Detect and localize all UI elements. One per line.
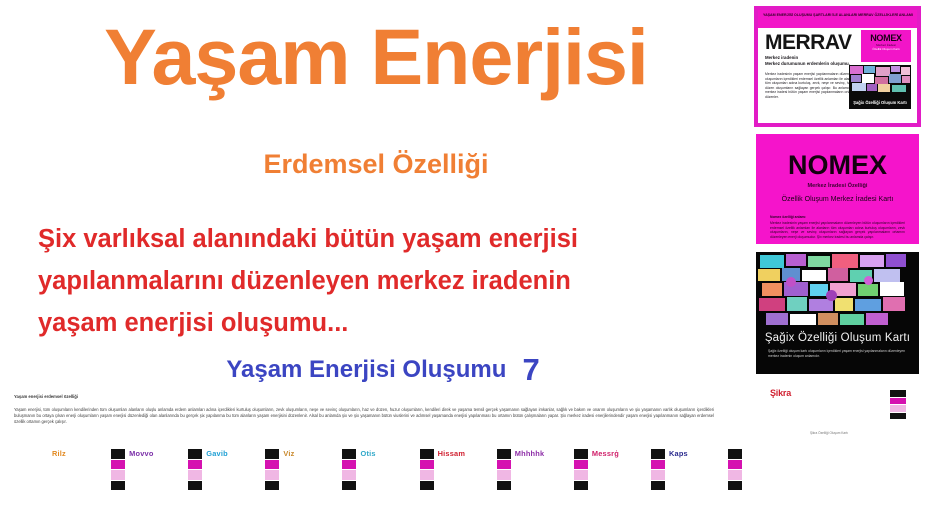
merrav-thumbnail-caption: Şağix Özelliği Oluşum Kartı [849, 100, 911, 105]
body-text: Şix varlıksal alanındaki bütün yaşam ene… [38, 218, 728, 344]
thumbnail-title: Movvo [129, 449, 153, 458]
slide-canvas: Yaşam Enerjisi Erdemsel Özelliği Şix var… [0, 0, 925, 527]
thumbnail-title: Kaps [669, 449, 688, 458]
thumbnail-title: Messrġ [592, 449, 619, 458]
gallery-mosaic [756, 252, 919, 330]
thumbnail-card[interactable]: Messrġ [592, 449, 665, 509]
thumbnail-strip [651, 449, 665, 491]
document-paragraph: Yaşam enerjisi, tüm oluşumların kendiler… [14, 407, 714, 425]
nomex-card[interactable]: NOMEX Merkez İradesi Özelliği Özellik Ol… [756, 134, 919, 244]
sikra-strip [890, 390, 906, 420]
body-line-3: yaşam enerjisi oluşumu... [38, 302, 728, 344]
gallery-subtitle: Şağix özelliği oluşum kartı oluşumların … [768, 349, 907, 358]
caption-row: Yaşam Enerjisi Oluşumu7 [38, 352, 728, 388]
gallery-card[interactable]: Şağix Özelliği Oluşum Kartı Şağix özelli… [756, 252, 919, 374]
merrav-subtitle: Merkez iradenin Merkez durumunun erdemle… [765, 55, 860, 68]
thumbnail-strip [111, 449, 125, 491]
merrav-card[interactable]: YAŞAM ENERJİSİ OLUŞUMU ŞARTLARI İLE ALAN… [754, 6, 921, 127]
body-line-1: Şix varlıksal alanındaki bütün yaşam ene… [38, 218, 728, 260]
thumbnail-row: Rilz Movvo Gavib [52, 449, 742, 511]
thumbnail-title: Rilz [52, 449, 66, 458]
thumbnail-title: Otis [361, 449, 376, 458]
thumbnail-strip [420, 449, 434, 491]
thumbnail-card[interactable]: Hissam [438, 449, 511, 509]
gallery-title: Şağix Özelliği Oluşum Kartı [756, 332, 919, 344]
sikra-footer: Şikra Özelliği Oluşum Kartı [770, 429, 888, 435]
caption-number: 7 [522, 352, 539, 387]
thumbnail-title: Mhhhhk [515, 449, 545, 458]
thumbnail-strip [188, 449, 202, 491]
page-title: Yaşam Enerjisi [18, 14, 734, 100]
merrav-body-text: Merkez iradesinin yaşam enerjisi yapılan… [765, 72, 857, 100]
right-rail: YAŞAM ENERJİSİ OLUŞUMU ŞARTLARI İLE ALAN… [752, 0, 925, 527]
merrav-band: YAŞAM ENERJİSİ OLUŞUMU ŞARTLARI İLE ALAN… [758, 10, 917, 28]
thumbnail-card[interactable]: Movvo [129, 449, 202, 509]
thumbnail-card[interactable]: Viz [283, 449, 356, 509]
merrav-sub-line-2: Merkez durumunun erdemlerin oluşumu. [765, 61, 860, 67]
merrav-thumbnail[interactable]: Şağix Özelliği Oluşum Kartı [849, 65, 911, 109]
sikra-card[interactable]: Şikra Şikra Özelliği Oluşum Kartı [770, 388, 906, 436]
page-subtitle: Erdemsel Özelliği [18, 148, 734, 180]
nomex-body-heading: Nomex özelliği anlamı [756, 203, 919, 219]
thumbnail-card[interactable]: Mhhhhk [515, 449, 588, 509]
merrav-band-text: YAŞAM ENERJİSİ OLUŞUMU ŞARTLARI İLE ALAN… [758, 10, 917, 18]
thumbnail-title: Viz [283, 449, 294, 458]
sikra-footer-caption: Şikra Özelliği Oluşum Kartı [770, 431, 888, 435]
nomex-title: NOMEX [756, 134, 919, 181]
nomex-chip-title: NOMEX [861, 30, 911, 43]
sikra-title: Şikra [770, 388, 791, 398]
thumbnail-card[interactable]: Kaps [669, 449, 742, 509]
nomex-sub-2: Özellik Oluşum Merkez İradesi Kartı [756, 196, 919, 203]
thumbnail-title: Hissam [438, 449, 466, 458]
thumbnail-strip [497, 449, 511, 491]
thumbnail-strip [342, 449, 356, 491]
thumbnail-card[interactable]: Gavib [206, 449, 279, 509]
thumbnail-card[interactable]: Rilz [52, 449, 125, 509]
thumbnail-strip [574, 449, 588, 491]
nomex-body-text: Merkez iradesinin yaşam enerjisi yapılan… [756, 219, 919, 240]
caption-label: Yaşam Enerjisi Oluşumu [226, 356, 506, 383]
nomex-chip-sub2: Özellik Oluşum Kartı [861, 47, 911, 51]
thumbnail-strip [265, 449, 279, 491]
nomex-sub-1: Merkez İradesi Özelliği [756, 183, 919, 189]
document-block: Yaşam enerjisi erdemsel özelliği Yaşam e… [14, 394, 738, 518]
merrav-title: MERRAV [765, 31, 851, 55]
thumbnail-card[interactable]: Otis [361, 449, 434, 509]
thumbnail-strip [728, 449, 742, 491]
document-heading: Yaşam enerjisi erdemsel özelliği [14, 394, 738, 400]
body-line-2: yapılanmalarını düzenleyen merkez iraden… [38, 260, 728, 302]
slide-left-column: Yaşam Enerjisi Erdemsel Özelliği Şix var… [0, 0, 752, 527]
nomex-chip[interactable]: NOMEX Merkez İradesi Özellik Oluşum Kart… [861, 30, 911, 62]
sikra-header: Şikra [770, 388, 906, 398]
thumbnail-title: Gavib [206, 449, 228, 458]
